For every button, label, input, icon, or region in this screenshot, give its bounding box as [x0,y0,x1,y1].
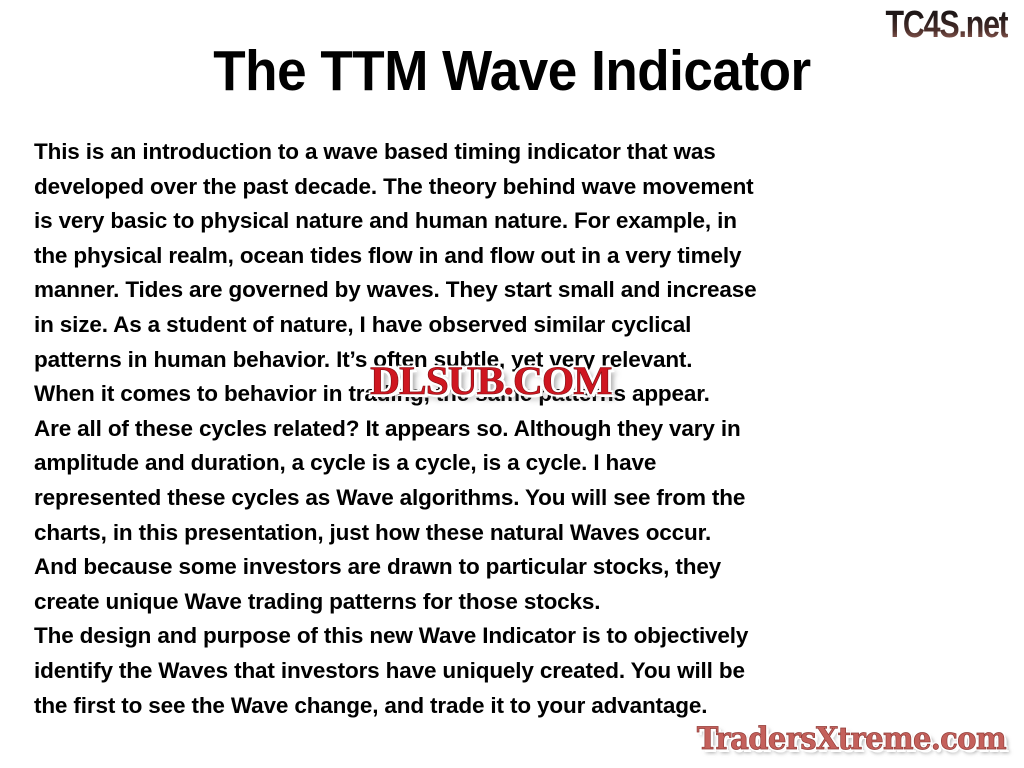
body-line: manner. Tides are governed by waves. The… [34,273,994,308]
body-line: This is an introduction to a wave based … [34,135,994,170]
slide-title: The TTM Wave Indicator [36,40,988,102]
body-line: represented these cycles as Wave algorit… [34,481,994,516]
body-line: create unique Wave trading patterns for … [34,585,994,620]
body-text-block: This is an introduction to a wave based … [34,135,994,723]
body-line: The design and purpose of this new Wave … [34,619,994,654]
tradersxtreme-footer-logo: TradersXtreme.com [697,721,1006,757]
body-line: is very basic to physical nature and hum… [34,204,994,239]
body-line: the first to see the Wave change, and tr… [34,689,994,724]
body-line: identify the Waves that investors have u… [34,654,994,689]
body-line: amplitude and duration, a cycle is a cyc… [34,446,994,481]
body-line: Are all of these cycles related? It appe… [34,412,994,447]
body-line: And because some investors are drawn to … [34,550,994,585]
body-line: in size. As a student of nature, I have … [34,308,994,343]
body-line: the physical realm, ocean tides flow in … [34,239,994,274]
dlsub-watermark: DLSUB.COM [370,361,611,401]
body-line: developed over the past decade. The theo… [34,170,994,205]
presentation-slide: TC4S.net The TTM Wave Indicator This is … [0,0,1024,768]
body-line: charts, in this presentation, just how t… [34,516,994,551]
